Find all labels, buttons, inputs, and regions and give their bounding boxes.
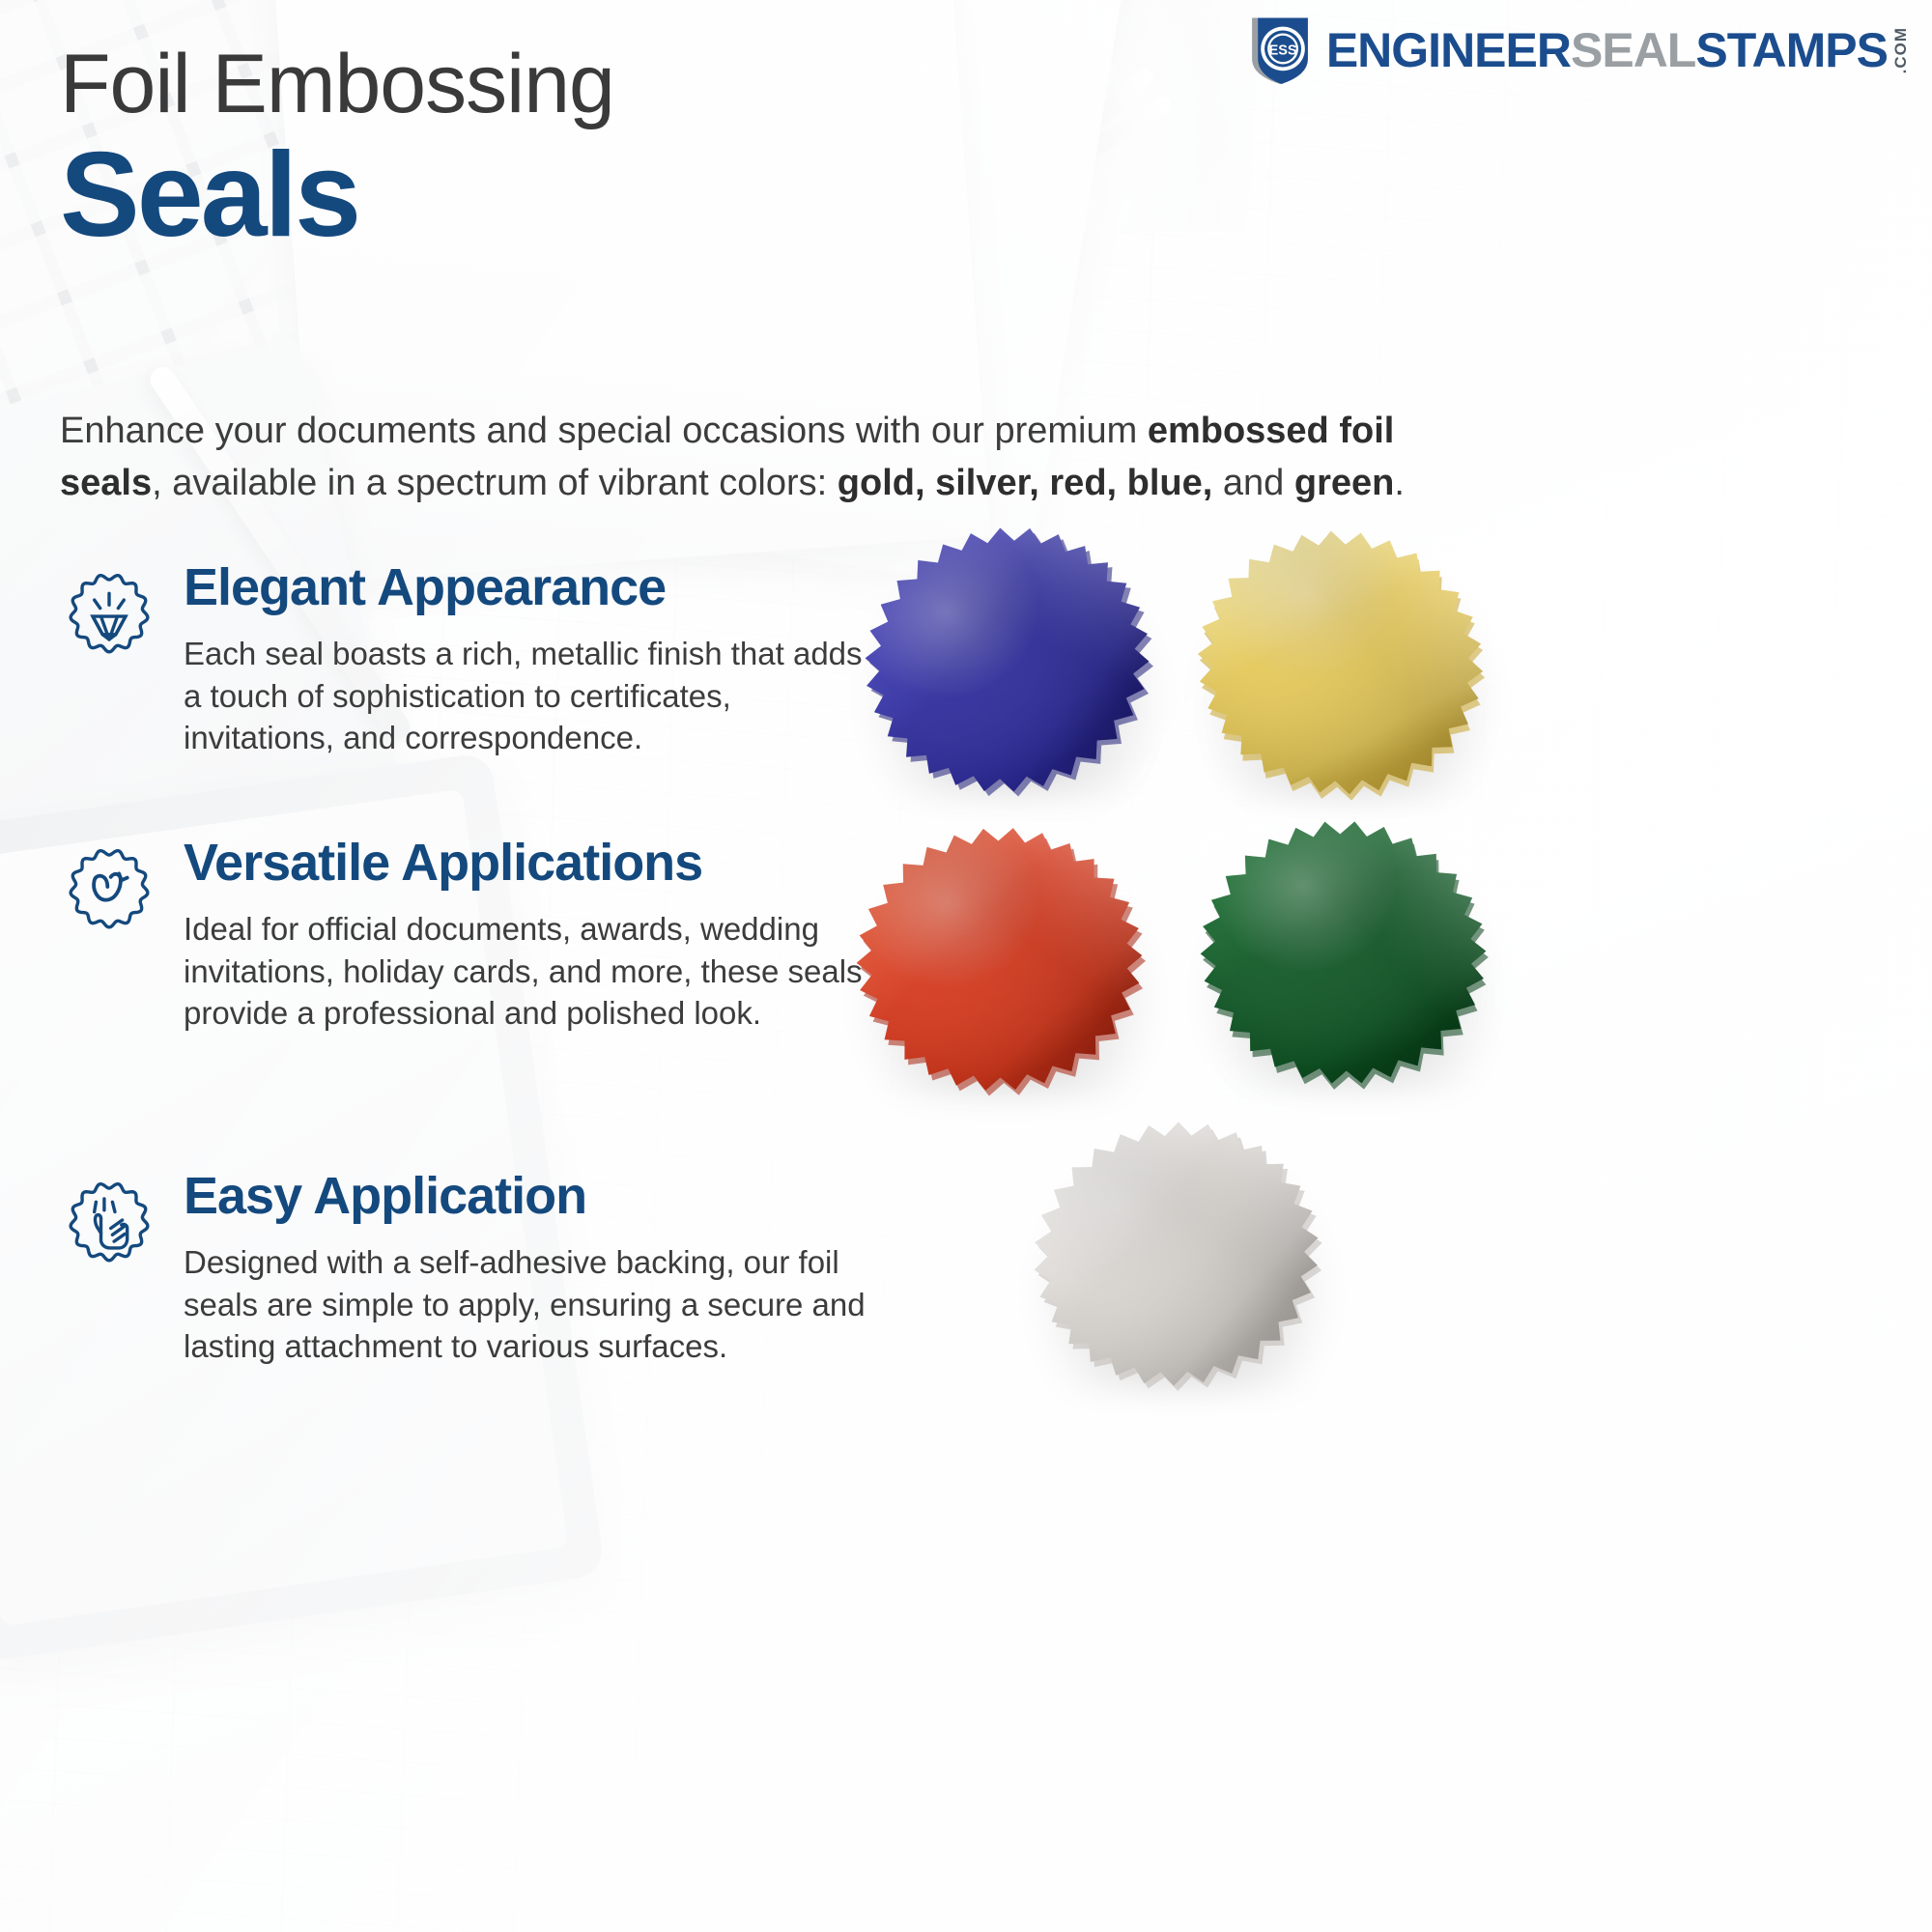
brand-logo[interactable]: ESS ENGINEER SEAL STAMPS .COM (1243, 14, 1909, 87)
feature-body: Each seal boasts a rich, metallic finish… (184, 633, 879, 759)
intro-bold-2: gold, silver, red, blue, (838, 463, 1213, 503)
page-title-line-1: Foil Embossing (60, 43, 614, 126)
svg-text:ESS: ESS (1268, 43, 1296, 59)
brand-wordmark: ENGINEER SEAL STAMPS .COM (1326, 26, 1909, 74)
brand-word-engineer: ENGINEER (1326, 26, 1571, 74)
intro-bold-3: green (1294, 463, 1394, 503)
feature-body: Designed with a self-adhesive backing, o… (184, 1241, 879, 1368)
brand-word-stamps: STAMPS (1695, 26, 1888, 74)
brand-tld: .COM (1892, 27, 1909, 73)
seal-disc (840, 507, 1174, 797)
feature-versatile-applications: Versatile Applications Ideal for officia… (60, 836, 879, 1035)
infinity-loop-icon (60, 838, 158, 936)
intro-paragraph: Enhance your documents and special occas… (60, 406, 1432, 510)
green-foil-seal (1177, 800, 1510, 1090)
intro-text-4: . (1394, 463, 1405, 503)
seal-disc (1177, 800, 1510, 1090)
feature-easy-application: Easy Application Designed with a self-ad… (60, 1169, 879, 1368)
feature-heading: Elegant Appearance (184, 560, 879, 615)
intro-text-1: Enhance your documents and special occas… (60, 411, 1148, 451)
feature-elegant-appearance: Elegant Appearance Each seal boasts a ri… (60, 560, 879, 759)
red-foil-seal (833, 807, 1166, 1096)
feature-body: Ideal for official documents, awards, we… (184, 908, 879, 1035)
ess-gear-badge-icon: ESS (1243, 14, 1317, 87)
feature-heading: Easy Application (184, 1169, 879, 1224)
intro-text-3: and (1212, 463, 1294, 503)
diamond-gem-icon (60, 562, 158, 661)
intro-text-2: , available in a spectrum of vibrant col… (152, 463, 838, 503)
tap-hand-icon (60, 1171, 158, 1269)
gold-foil-seal (1174, 510, 1507, 800)
seal-disc (1009, 1101, 1343, 1391)
page-title-line-2: Seals (60, 135, 358, 255)
feature-heading: Versatile Applications (184, 836, 879, 891)
silver-foil-seal (1009, 1101, 1343, 1391)
seal-disc (1174, 510, 1507, 800)
brand-word-seal: SEAL (1571, 26, 1695, 74)
seal-disc (833, 807, 1166, 1096)
blue-foil-seal (840, 507, 1174, 797)
